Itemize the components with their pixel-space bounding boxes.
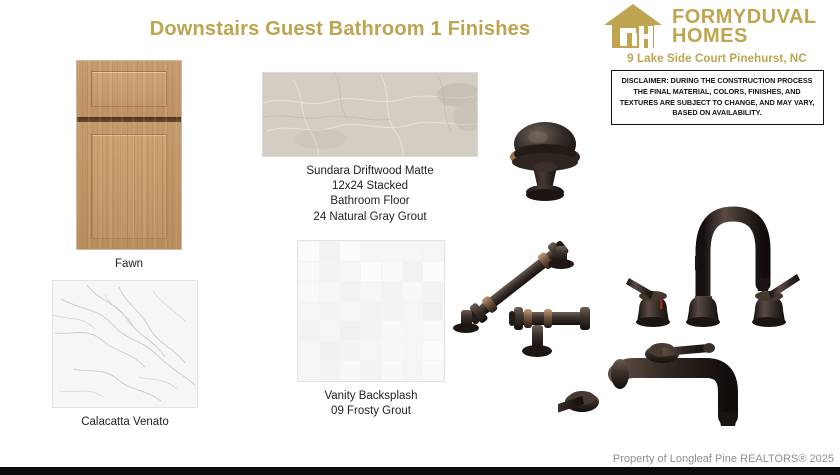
cabinet-door-caption: Fawn <box>76 257 182 272</box>
finishes-board: Downstairs Guest Bathroom 1 Finishes FOR… <box>0 0 840 475</box>
mosaic-tile-cell <box>340 242 360 261</box>
mosaic-tile-cell <box>382 302 402 321</box>
floor-tile-caption-line: 24 Natural Gray Grout <box>262 210 478 225</box>
mosaic-tile-cell <box>299 262 319 281</box>
mosaic-tile-cell <box>361 321 381 340</box>
mosaic-tile-cell <box>361 282 381 301</box>
house-fh-logo-icon <box>602 2 664 50</box>
mosaic-tile-cell <box>403 302 423 321</box>
mosaic-tile-cell <box>299 321 319 340</box>
wall-mount-tub-filler-image <box>558 330 748 453</box>
quartz-slab-sample: Calacatta Venato <box>52 280 198 430</box>
mosaic-tile-cell <box>423 262 443 281</box>
floor-tile-sample: Sundara Driftwood Matte 12x24 Stacked Ba… <box>262 72 478 225</box>
cabinet-knob-image <box>505 115 585 220</box>
mosaic-tile-cell <box>299 361 319 380</box>
mosaic-tile-cell <box>340 321 360 340</box>
cabinet-door-image <box>76 60 182 250</box>
mosaic-tile-cell <box>423 302 443 321</box>
mosaic-tile-cell <box>423 282 443 301</box>
disclaimer-box: DISCLAIMER: DURING THE CONSTRUCTION PROC… <box>611 70 824 125</box>
quartz-slab-caption: Calacatta Venato <box>52 415 198 430</box>
mosaic-tile-cell <box>361 302 381 321</box>
mosaic-tile-cell <box>299 302 319 321</box>
mosaic-tile-cell <box>340 262 360 281</box>
property-address: 9 Lake Side Court Pinehurst, NC <box>602 53 832 65</box>
mosaic-tile-caption: Vanity Backsplash 09 Frosty Grout <box>297 389 445 419</box>
mosaic-tile-cell <box>361 361 381 380</box>
cabinet-door-sample: Fawn <box>76 60 182 272</box>
mosaic-tile-cell <box>403 262 423 281</box>
mosaic-tile-cell <box>403 242 423 261</box>
mosaic-tile-cell <box>423 341 443 360</box>
mosaic-tile-cell <box>361 242 381 261</box>
bottom-bar <box>0 467 840 475</box>
page-title: Downstairs Guest Bathroom 1 Finishes <box>110 18 570 41</box>
mosaic-tile-cell <box>299 341 319 360</box>
mosaic-tile-cell <box>299 282 319 301</box>
mosaic-tile-cell <box>320 321 340 340</box>
mosaic-tile-cell <box>403 282 423 301</box>
mosaic-caption-line: 09 Frosty Grout <box>297 404 445 419</box>
mosaic-tile-cell <box>423 321 443 340</box>
mosaic-tile-cell <box>382 242 402 261</box>
mosaic-tile-cell <box>340 302 360 321</box>
mosaic-tile-cell <box>361 341 381 360</box>
mosaic-tile-cell <box>403 321 423 340</box>
brand-name: FORMYDUVAL HOMES <box>672 6 817 46</box>
mosaic-tile-cell <box>340 341 360 360</box>
mosaic-tile-cell <box>320 242 340 261</box>
mosaic-tile-cell <box>382 341 402 360</box>
mosaic-tile-cell <box>382 282 402 301</box>
mosaic-tile-cell <box>361 262 381 281</box>
mosaic-tile-sample: Vanity Backsplash 09 Frosty Grout <box>297 240 445 419</box>
mosaic-tile-cell <box>320 262 340 281</box>
mosaic-tile-cell <box>403 361 423 380</box>
mosaic-tile-cell <box>423 361 443 380</box>
widespread-lavatory-faucet-image <box>625 192 810 332</box>
mosaic-tile-cell <box>320 341 340 360</box>
mosaic-tile-cell <box>320 302 340 321</box>
brand-name-line2: HOMES <box>672 27 817 46</box>
floor-tile-image <box>262 72 478 157</box>
floor-tile-caption-line: Sundara Driftwood Matte <box>262 164 478 179</box>
mosaic-tile-cell <box>423 242 443 261</box>
mosaic-tile-cell <box>340 361 360 380</box>
mosaic-tile-image <box>297 240 445 382</box>
mosaic-caption-line: Vanity Backsplash <box>297 389 445 404</box>
mosaic-tile-cell <box>382 361 402 380</box>
mosaic-tile-cell <box>320 361 340 380</box>
copyright-credit: Property of Longleaf Pine REALTORS® 2025 <box>613 453 834 465</box>
quartz-slab-image <box>52 280 198 408</box>
floor-tile-caption-line: 12x24 Stacked <box>262 179 478 194</box>
floor-tile-caption-line: Bathroom Floor <box>262 194 478 209</box>
mosaic-tile-cell <box>382 321 402 340</box>
mosaic-tile-cell <box>403 341 423 360</box>
mosaic-tile-cell <box>299 242 319 261</box>
mosaic-tile-cell <box>320 282 340 301</box>
floor-tile-caption: Sundara Driftwood Matte 12x24 Stacked Ba… <box>262 164 478 225</box>
brand-block: FORMYDUVAL HOMES 9 Lake Side Court Pineh… <box>602 2 832 125</box>
mosaic-tile-cell <box>340 282 360 301</box>
mosaic-tile-cell <box>382 262 402 281</box>
